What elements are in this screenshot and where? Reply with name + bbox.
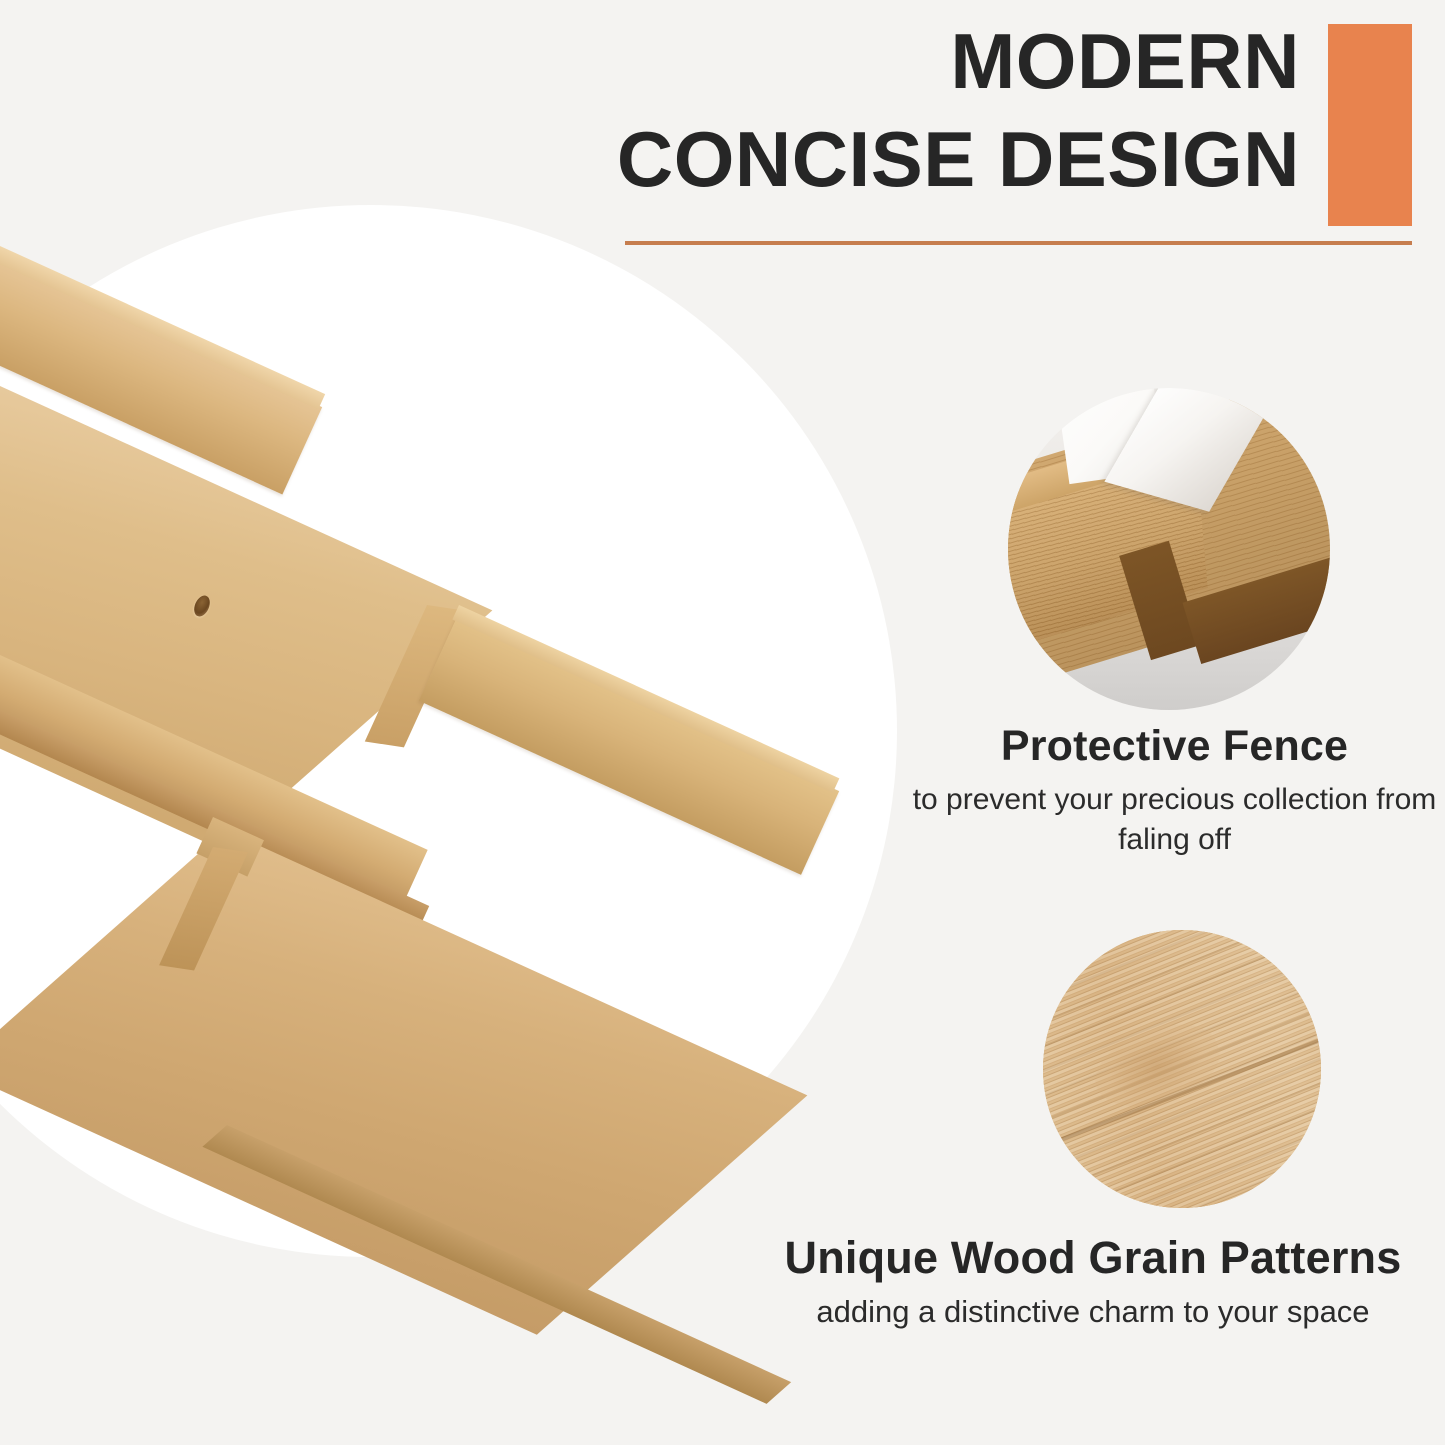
- feature-1-subtitle: to prevent your precious collection from…: [912, 780, 1437, 860]
- lower-shelf-product-image: [195, 595, 935, 1275]
- feature-block-wood-grain: Unique Wood Grain Patterns adding a dist…: [748, 1232, 1438, 1332]
- feature-block-protective-fence: Protective Fence to prevent your preciou…: [912, 720, 1437, 860]
- feature-2-title: Unique Wood Grain Patterns: [748, 1232, 1438, 1284]
- product-feature-poster: MODERN CONCISE DESIGN Protective Fence t…: [0, 0, 1445, 1445]
- wood-grain-detail-image: [1043, 930, 1321, 1208]
- feature-2-subtitle: adding a distinctive charm to your space: [748, 1292, 1438, 1332]
- headline-line-1: MODERN: [617, 12, 1300, 110]
- feature-1-title: Protective Fence: [912, 720, 1437, 772]
- orange-accent-bar: [1328, 24, 1412, 226]
- headline-line-2: CONCISE DESIGN: [617, 110, 1300, 208]
- header: MODERN CONCISE DESIGN: [600, 0, 1445, 260]
- protective-fence-detail-image: [1008, 388, 1330, 710]
- header-divider-rule: [625, 241, 1412, 245]
- lower-shelf-back-fence: [419, 617, 839, 875]
- headline: MODERN CONCISE DESIGN: [617, 12, 1300, 208]
- lower-shelf-screw-hole: [191, 593, 213, 619]
